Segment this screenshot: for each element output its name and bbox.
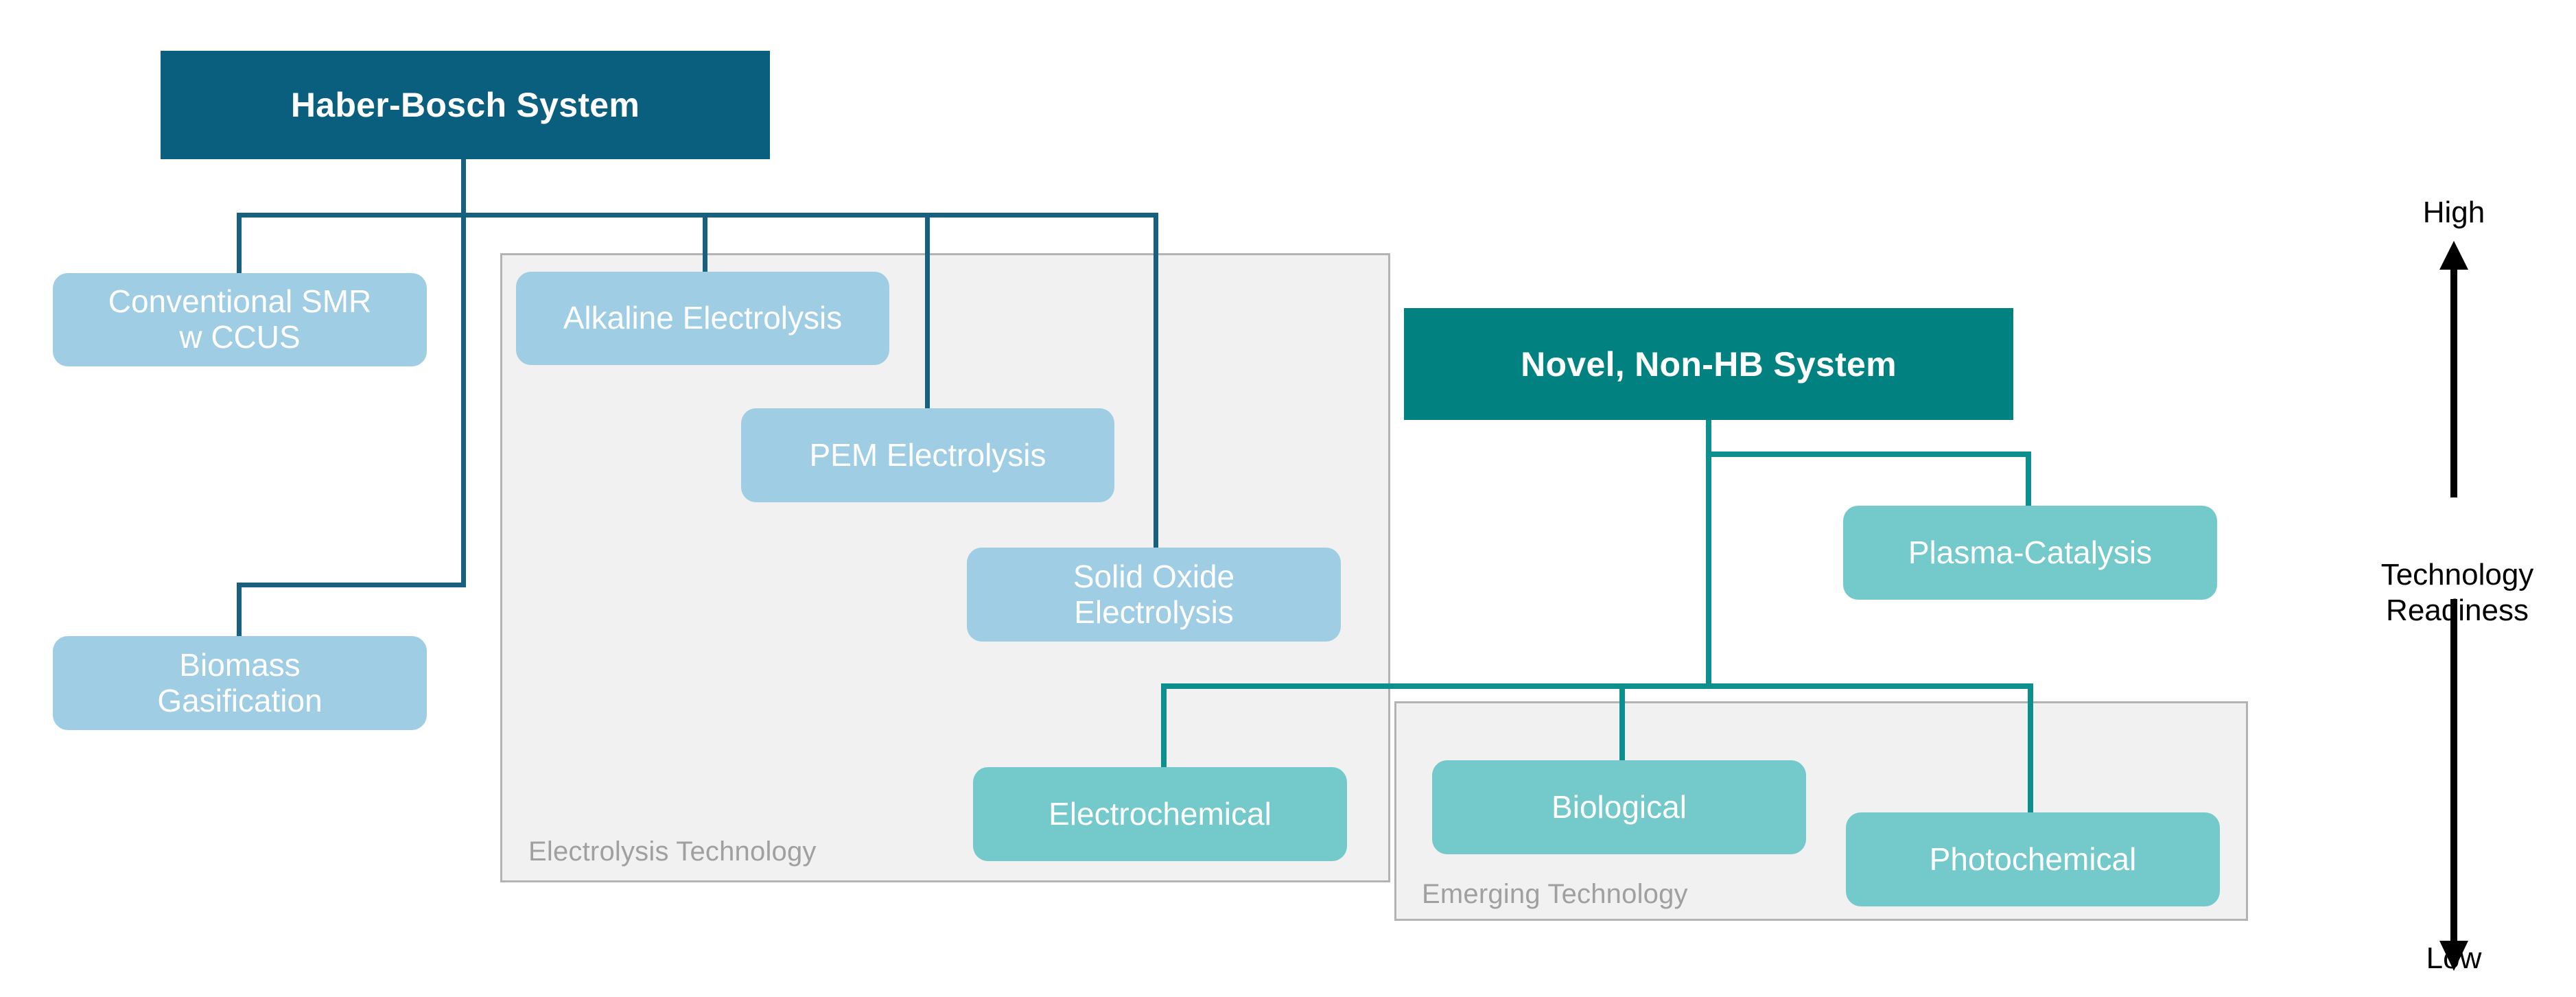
connector-novel-to-plasma-horizontal: [1706, 451, 2031, 457]
root-node-novel-non-hb[interactable]: Novel, Non-HB System: [1404, 308, 2013, 420]
node-photochemical[interactable]: Photochemical: [1846, 812, 2220, 906]
connector-novel-lower-bus: [1161, 683, 2033, 689]
node-biomass-gasification-line2: Gasification: [157, 683, 322, 719]
connector-novel-to-photochemical: [2028, 683, 2033, 812]
axis-title-line2: Readiness: [2386, 594, 2529, 627]
connector-novel-to-plasma-drop: [2026, 451, 2031, 506]
axis-title-technology-readiness: Technology Readiness: [2358, 557, 2557, 629]
node-photochemical-label: Photochemical: [1930, 842, 2137, 878]
connector-novel-trunk: [1706, 451, 1711, 688]
connector-hb-to-solid-oxide: [1154, 213, 1158, 548]
diagram-canvas: Haber-Bosch System Novel, Non-HB System …: [0, 0, 2576, 997]
node-pem-electrolysis[interactable]: PEM Electrolysis: [741, 408, 1114, 502]
node-pem-electrolysis-label: PEM Electrolysis: [809, 438, 1046, 473]
axis-title-line1: Technology: [2381, 558, 2534, 591]
node-conventional-smr-line1: Conventional SMR: [108, 284, 372, 320]
node-alkaline-electrolysis[interactable]: Alkaline Electrolysis: [516, 272, 889, 365]
root-node-novel-non-hb-label: Novel, Non-HB System: [1521, 344, 1897, 384]
connector-novel-to-electrochemical: [1161, 683, 1167, 768]
group-label-emerging-technology: Emerging Technology: [1422, 879, 1688, 910]
connector-hb-to-biomass-drop: [237, 583, 242, 637]
node-electrochemical[interactable]: Electrochemical: [973, 767, 1347, 861]
connector-hb-to-biomass-horizontal: [237, 583, 466, 587]
root-node-haber-bosch[interactable]: Haber-Bosch System: [161, 51, 770, 159]
connector-hb-to-alkaline: [703, 213, 707, 273]
node-conventional-smr[interactable]: Conventional SMR w CCUS: [53, 273, 427, 366]
axis-label-low: Low: [2378, 941, 2529, 976]
root-node-haber-bosch-label: Haber-Bosch System: [291, 85, 640, 125]
node-solid-oxide-electrolysis[interactable]: Solid Oxide Electrolysis: [967, 548, 1341, 642]
node-biological-label: Biological: [1552, 790, 1687, 825]
node-alkaline-electrolysis-label: Alkaline Electrolysis: [563, 301, 842, 336]
connector-novel-to-biological: [1619, 683, 1625, 762]
node-solid-oxide-electrolysis-line2: Electrolysis: [1074, 595, 1234, 631]
node-plasma-catalysis[interactable]: Plasma-Catalysis: [1843, 506, 2217, 600]
connector-hb-stem: [461, 159, 466, 217]
connector-hb-to-conventional-smr: [237, 213, 242, 274]
connector-hb-to-pem: [925, 213, 930, 408]
connector-hb-to-biomass-vertical: [461, 213, 466, 587]
node-plasma-catalysis-label: Plasma-Catalysis: [1908, 535, 2152, 571]
connector-hb-bus: [237, 213, 1158, 218]
node-solid-oxide-electrolysis-line1: Solid Oxide: [1073, 559, 1234, 595]
axis-label-high: High: [2378, 196, 2529, 230]
node-biomass-gasification-line1: Biomass: [179, 648, 300, 683]
group-label-electrolysis-technology: Electrolysis Technology: [528, 836, 817, 867]
node-conventional-smr-line2: w CCUS: [179, 320, 300, 355]
node-biomass-gasification[interactable]: Biomass Gasification: [53, 636, 427, 730]
node-biological[interactable]: Biological: [1432, 760, 1806, 854]
node-electrochemical-label: Electrochemical: [1049, 797, 1272, 832]
